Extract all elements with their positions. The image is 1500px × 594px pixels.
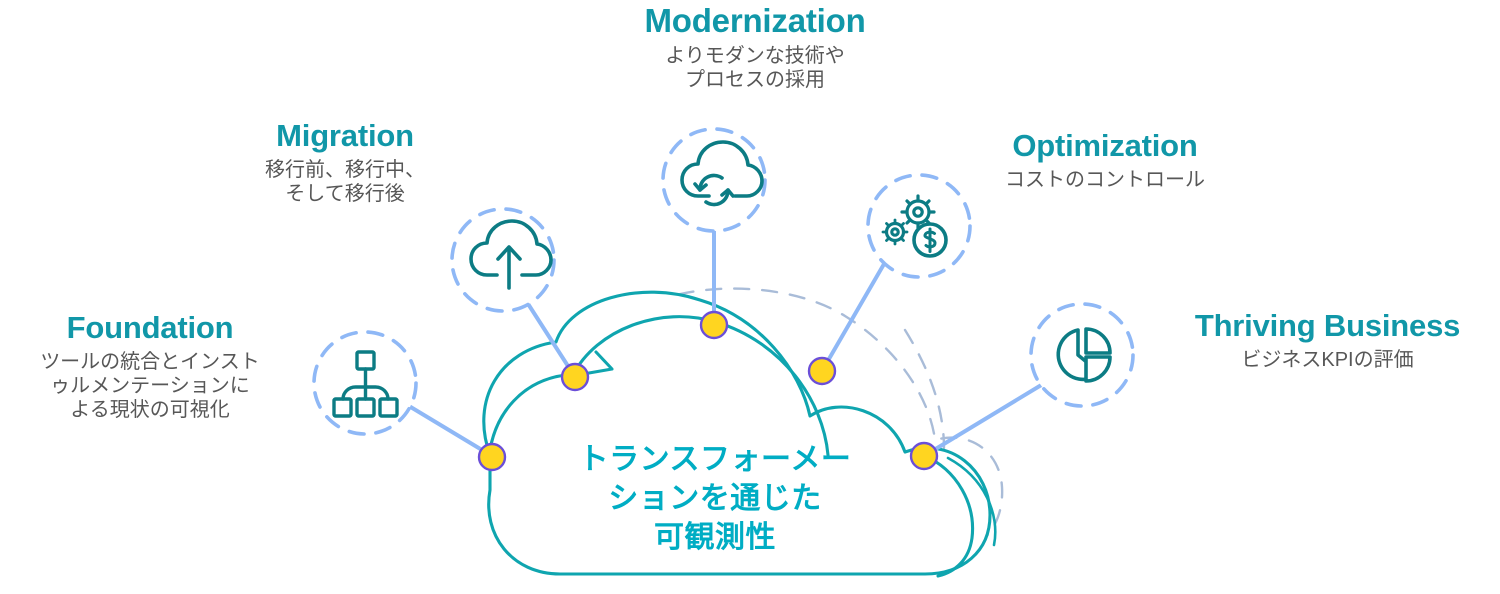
label-migration-subtitle: 移行前、移行中、 そして移行後 bbox=[200, 158, 490, 207]
label-thriving-business: Thriving Business ビジネスKPIの評価 bbox=[1155, 310, 1500, 372]
cloud-center-text: トランスフォーメー ションを通じた 可観測性 bbox=[555, 440, 875, 557]
icon-circle-thriving bbox=[1031, 304, 1133, 406]
label-modernization-subtitle: よりモダンな技術や プロセスの採用 bbox=[555, 44, 955, 93]
label-modernization: Modernization よりモダンな技術や プロセスの採用 bbox=[555, 4, 955, 92]
label-optimization: Optimization コストのコントロール bbox=[930, 130, 1280, 192]
node-dot-thriving bbox=[911, 443, 937, 469]
label-optimization-subtitle: コストのコントロール bbox=[930, 168, 1280, 192]
label-modernization-title: Modernization bbox=[555, 4, 955, 39]
node-dot-optimization bbox=[809, 358, 835, 384]
label-thriving-business-subtitle: ビジネスKPIの評価 bbox=[1155, 348, 1500, 372]
label-migration: Migration 移行前、移行中、 そして移行後 bbox=[200, 120, 490, 206]
label-thriving-business-title: Thriving Business bbox=[1155, 310, 1500, 343]
label-foundation-title: Foundation bbox=[0, 312, 300, 345]
node-dot-modernization bbox=[701, 312, 727, 338]
connector-optimization bbox=[822, 264, 884, 371]
label-foundation-subtitle: ツールの統合とインスト ゥルメンテーションに よる現状の可視化 bbox=[0, 350, 300, 423]
diagram-canvas: Foundation ツールの統合とインスト ゥルメンテーションに よる現状の可… bbox=[0, 0, 1500, 594]
connector-foundation bbox=[399, 400, 492, 456]
label-foundation: Foundation ツールの統合とインスト ゥルメンテーションに よる現状の可… bbox=[0, 312, 300, 423]
label-migration-title: Migration bbox=[200, 120, 490, 153]
node-dot-migration bbox=[562, 364, 588, 390]
label-optimization-title: Optimization bbox=[930, 130, 1280, 163]
node-dot-foundation bbox=[479, 444, 505, 470]
